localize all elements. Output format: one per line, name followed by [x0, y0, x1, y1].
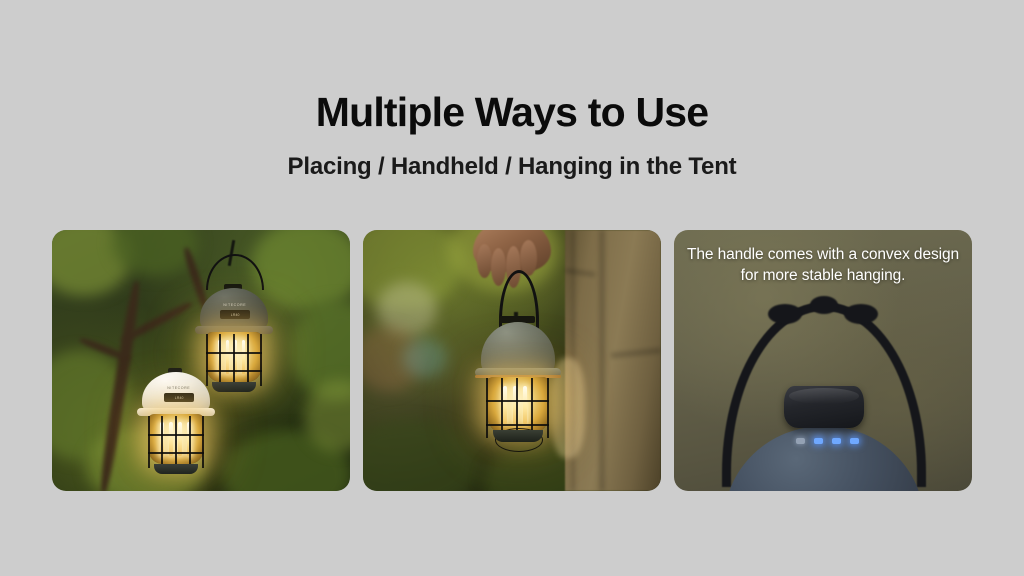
image-gallery: NITECORE LR40 NITE: [52, 230, 972, 491]
lantern-base: [154, 464, 198, 474]
lantern-white: NITECORE LR40: [136, 368, 232, 491]
heading-block: Multiple Ways to Use Placing / Handheld …: [0, 92, 1024, 179]
background-bokeh: [377, 282, 437, 336]
lantern-base: [493, 430, 543, 442]
cage-bar: [260, 334, 262, 386]
panel-caption: The handle comes with a convex design fo…: [674, 244, 972, 287]
cage-bar: [486, 400, 549, 402]
filament: [503, 386, 507, 424]
background-bokeh: [403, 338, 447, 378]
brand-text: NITECORE: [223, 302, 246, 307]
cage-bar: [161, 416, 163, 468]
gallery-panel-hanging-tree[interactable]: NITECORE LR40 NITE: [52, 230, 350, 491]
indicator-led-2: [814, 438, 823, 444]
cage-bar: [233, 334, 235, 386]
foliage-blob: [222, 430, 350, 491]
brand-text: NITECORE: [167, 385, 190, 390]
foliage-blob: [290, 300, 350, 400]
cage-bar: [148, 416, 150, 468]
lantern-olive: [473, 268, 583, 458]
model-label-text: LR40: [231, 312, 240, 316]
lantern-dome: [142, 372, 210, 412]
filament: [242, 340, 245, 374]
model-label-text: LR40: [175, 395, 184, 399]
cage-bar: [148, 434, 204, 436]
indicator-led-1: [796, 438, 805, 444]
cage-bar: [247, 334, 249, 386]
indicator-led-4: [850, 438, 859, 444]
cage-bar: [206, 352, 262, 354]
background-bokeh: [363, 326, 423, 392]
knob-cap[interactable]: [784, 386, 864, 428]
cage-bar: [486, 424, 549, 426]
cage-bar: [547, 378, 549, 438]
filament: [169, 422, 173, 456]
cage-bar: [175, 416, 177, 468]
filament: [178, 422, 182, 456]
handle-convex-bump: [768, 304, 802, 324]
foliage-blob: [304, 380, 350, 452]
cage-bar: [189, 416, 191, 468]
fabric-fold: [599, 230, 605, 491]
filament: [523, 386, 527, 424]
marketing-slide: Multiple Ways to Use Placing / Handheld …: [0, 0, 1024, 576]
indicator-led-3: [832, 438, 841, 444]
cage-bar: [148, 452, 204, 454]
gallery-panel-handle-closeup[interactable]: The handle comes with a convex design fo…: [674, 230, 972, 491]
gallery-panel-handheld[interactable]: [363, 230, 661, 491]
cage-bar: [486, 378, 488, 438]
page-title: Multiple Ways to Use: [0, 92, 1024, 133]
foliage-blob: [52, 230, 132, 296]
handle-apex-bump: [810, 296, 838, 314]
lantern-dome: [200, 288, 268, 330]
lantern-dome: [481, 322, 555, 374]
model-label: LR40: [220, 310, 250, 319]
background-bokeh: [363, 230, 463, 310]
fabric-fold: [611, 347, 661, 358]
background-bokeh: [363, 420, 479, 491]
cage-bar: [501, 378, 503, 438]
page-subtitle: Placing / Handheld / Hanging in the Tent: [0, 155, 1024, 179]
cage-bar: [202, 416, 204, 468]
handle-convex-bump: [844, 304, 878, 324]
model-label: LR40: [164, 393, 194, 402]
